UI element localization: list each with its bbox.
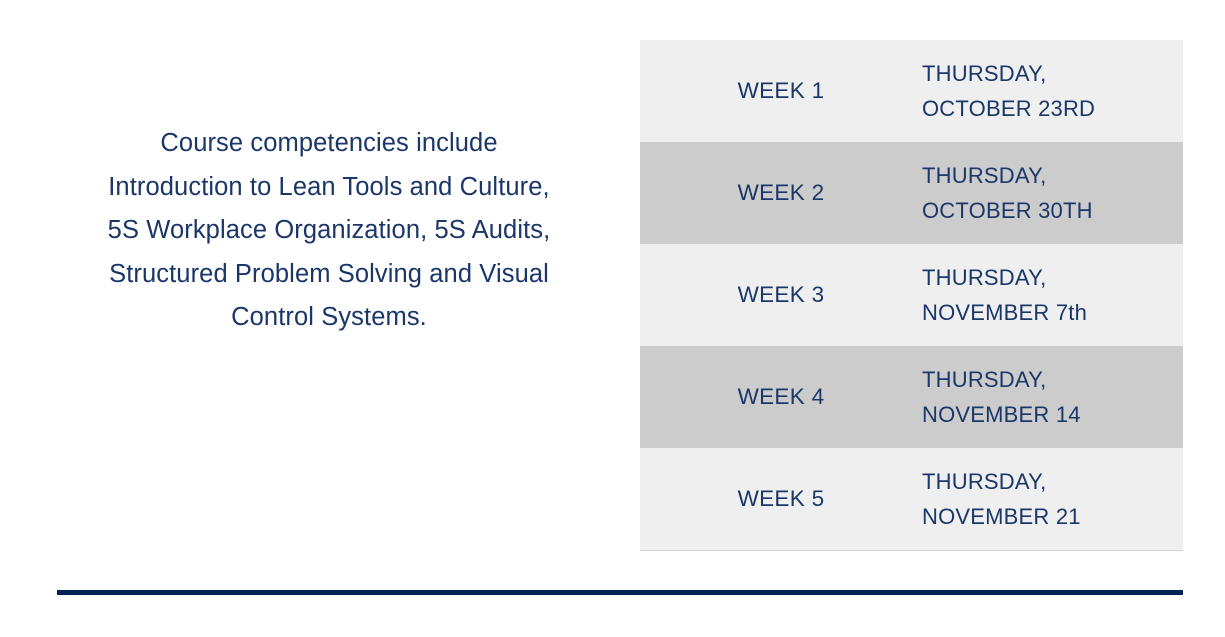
date-line-date: OCTOBER 23RD [922, 91, 1183, 126]
week-label: WEEK 2 [738, 178, 825, 208]
page-root: Course competencies include Introduction… [0, 0, 1225, 637]
date-line-day: THURSDAY, [922, 158, 1183, 193]
week-cell: WEEK 5 [640, 448, 922, 550]
table-row: WEEK 1 THURSDAY, OCTOBER 23RD [640, 40, 1183, 142]
week-label: WEEK 3 [738, 280, 825, 310]
week-cell: WEEK 1 [640, 40, 922, 142]
week-label: WEEK 1 [738, 76, 825, 106]
week-cell: WEEK 2 [640, 142, 922, 244]
date-cell: THURSDAY, NOVEMBER 14 [922, 346, 1183, 448]
date-cell: THURSDAY, OCTOBER 23RD [922, 40, 1183, 142]
date-line-day: THURSDAY, [922, 56, 1183, 91]
course-description-block: Course competencies include Introduction… [104, 122, 554, 340]
bottom-divider-rule [57, 590, 1183, 595]
schedule-table-body: WEEK 1 THURSDAY, OCTOBER 23RD WEEK 2 THU… [640, 40, 1183, 550]
week-label: WEEK 5 [738, 484, 825, 514]
date-cell: THURSDAY, NOVEMBER 7th [922, 244, 1183, 346]
table-row: WEEK 5 THURSDAY, NOVEMBER 21 [640, 448, 1183, 550]
course-description-text: Course competencies include Introduction… [104, 122, 554, 340]
date-line-date: OCTOBER 30TH [922, 193, 1183, 228]
table-row: WEEK 2 THURSDAY, OCTOBER 30TH [640, 142, 1183, 244]
date-line-date: NOVEMBER 14 [922, 397, 1183, 432]
date-line-date: NOVEMBER 7th [922, 295, 1183, 330]
date-line-day: THURSDAY, [922, 260, 1183, 295]
week-cell: WEEK 4 [640, 346, 922, 448]
schedule-table: WEEK 1 THURSDAY, OCTOBER 23RD WEEK 2 THU… [640, 40, 1183, 551]
date-cell: THURSDAY, OCTOBER 30TH [922, 142, 1183, 244]
date-line-day: THURSDAY, [922, 362, 1183, 397]
week-label: WEEK 4 [738, 382, 825, 412]
week-cell: WEEK 3 [640, 244, 922, 346]
date-line-day: THURSDAY, [922, 464, 1183, 499]
date-cell: THURSDAY, NOVEMBER 21 [922, 448, 1183, 550]
table-row: WEEK 3 THURSDAY, NOVEMBER 7th [640, 244, 1183, 346]
date-line-date: NOVEMBER 21 [922, 499, 1183, 534]
table-row: WEEK 4 THURSDAY, NOVEMBER 14 [640, 346, 1183, 448]
